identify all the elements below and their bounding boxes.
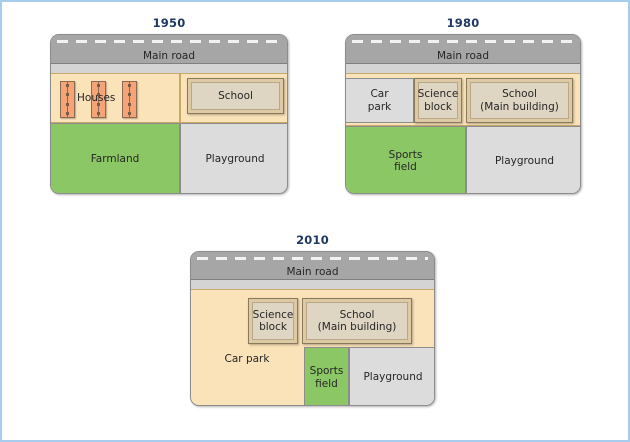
panel-1950: 1950 Main road bbox=[50, 16, 288, 194]
panel-1980: 1980 Main road Car park Science bbox=[345, 16, 581, 194]
panel-title-2010: 2010 bbox=[190, 233, 435, 247]
panel-title-1950: 1950 bbox=[50, 16, 288, 30]
road-dashed-centerline-icon bbox=[57, 40, 281, 43]
sports-field-label-line1: Sports bbox=[310, 365, 344, 377]
main-road-label-1980: Main road bbox=[346, 50, 580, 62]
playground-label-2010: Playground bbox=[363, 371, 422, 383]
sports-field-label-line2: field bbox=[315, 378, 338, 390]
science-block-label-line1: Science bbox=[253, 309, 294, 321]
house-dots bbox=[128, 84, 131, 115]
school-main-building-2010: School (Main building) bbox=[302, 298, 412, 344]
farmland-zone-1950: Farmland bbox=[50, 123, 180, 194]
house-icon bbox=[122, 81, 137, 118]
diagram-page: 1950 Main road bbox=[0, 0, 630, 442]
panel-title-1980: 1980 bbox=[345, 16, 581, 30]
car-park-zone-1980: Car park bbox=[345, 78, 414, 123]
school-label-1950: School bbox=[191, 82, 280, 110]
sports-field-zone-1980: Sports field bbox=[345, 126, 466, 194]
sports-field-zone-2010: Sports field bbox=[304, 347, 349, 406]
main-road-1980: Main road bbox=[346, 35, 580, 64]
school-label-line1: School bbox=[340, 309, 375, 321]
site-map-1980: Main road Car park Science block bbox=[345, 34, 581, 194]
science-block-building-1980: Science block bbox=[414, 78, 462, 123]
house-icon bbox=[60, 81, 75, 118]
main-road-1950: Main road bbox=[51, 35, 287, 64]
site-map-2010: Main road Car park Science block bbox=[190, 251, 435, 406]
farmland-label-1950: Farmland bbox=[91, 153, 140, 165]
school-label-line1: School bbox=[502, 88, 537, 100]
car-park-label-line2: park bbox=[368, 101, 392, 113]
road-dashed-centerline-icon bbox=[197, 257, 428, 260]
sports-field-label-line2: field bbox=[394, 161, 417, 173]
school-label-line2: (Main building) bbox=[318, 321, 397, 333]
house-dots bbox=[66, 84, 69, 115]
playground-zone-1980: Playground bbox=[466, 126, 581, 194]
main-road-label-2010: Main road bbox=[191, 266, 434, 278]
car-park-label-2010: Car park bbox=[225, 353, 270, 365]
playground-label-1980: Playground bbox=[495, 155, 554, 167]
science-block-label-line2: block bbox=[424, 101, 452, 113]
science-block-label-line2: block bbox=[259, 321, 287, 333]
playground-label-1950: Playground bbox=[205, 153, 264, 165]
school-building-1950: School bbox=[187, 78, 284, 114]
road-dashed-centerline-icon bbox=[352, 40, 574, 43]
main-road-label-1950: Main road bbox=[51, 50, 287, 62]
houses-label-1950: Houses bbox=[77, 92, 115, 104]
site-map-1950: Main road bbox=[50, 34, 288, 194]
playground-zone-1950: Playground bbox=[180, 123, 288, 194]
houses-zone-1950: Houses bbox=[50, 73, 180, 123]
science-block-building-2010: Science block bbox=[248, 298, 298, 344]
car-park-label-wrap-2010: Car park bbox=[197, 347, 297, 371]
main-road-2010: Main road bbox=[191, 252, 434, 280]
panel-2010: 2010 Main road Car park Science block bbox=[190, 233, 435, 406]
sports-field-label-line1: Sports bbox=[389, 149, 423, 161]
school-label-line2: (Main building) bbox=[480, 101, 559, 113]
car-park-label-line1: Car bbox=[370, 88, 388, 100]
playground-zone-2010: Playground bbox=[349, 347, 435, 406]
science-block-label-line1: Science bbox=[418, 88, 459, 100]
school-main-building-1980: School (Main building) bbox=[466, 78, 573, 123]
